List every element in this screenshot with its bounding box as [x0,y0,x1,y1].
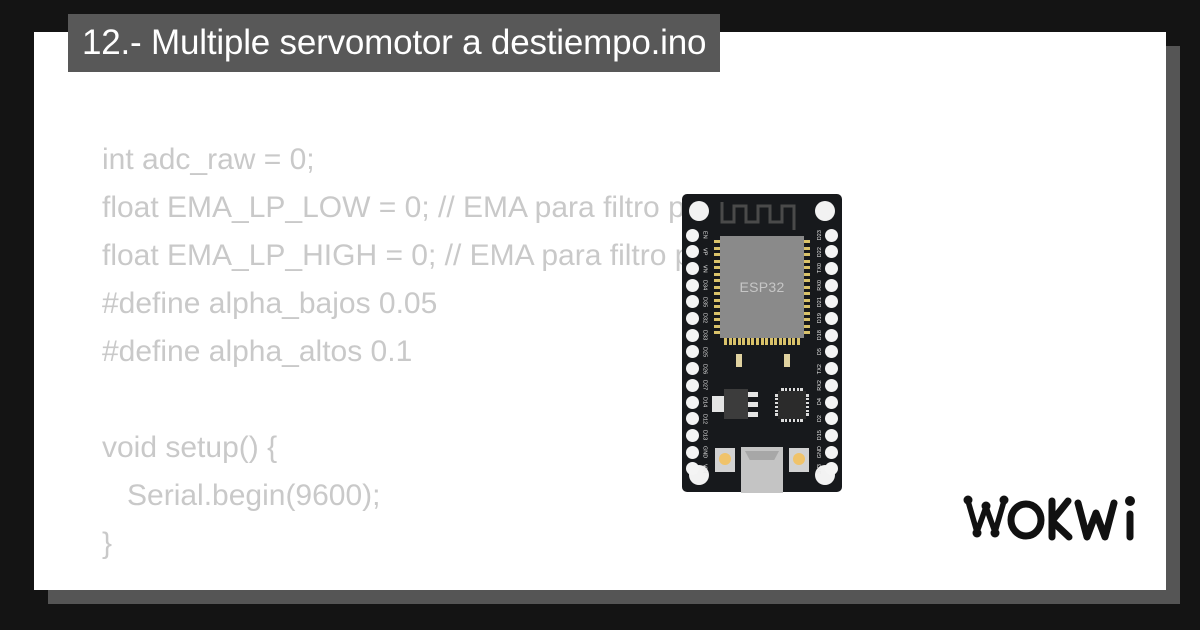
pin-pad-icon [825,396,838,409]
pin-pad-icon [686,396,699,409]
pin-label: D32 [701,313,706,323]
module-pad [803,305,810,308]
esp32-board: EN VP VN D34 D35 D32 D33 D25 D26 D27 D14… [682,194,842,492]
qfn-leads-right [806,394,809,416]
page-title: 12.- Multiple servomotor a destiempo.ino [82,23,706,63]
pin-label: D2 [818,415,823,422]
pin-left[interactable]: D25 [686,345,718,359]
pin-pad-icon [825,345,838,358]
pin-label: D26 [701,364,706,374]
module-pad [803,299,810,302]
module-pad [803,266,810,269]
module-pad [747,338,750,345]
module-pad [803,331,810,334]
pin-pad-icon [825,379,838,392]
qfn-lead [806,410,809,413]
pin-label: D5 [818,348,823,355]
pin-label: D23 [818,230,823,240]
pin-pad-icon [825,329,838,342]
pin-left[interactable]: D12 [686,412,718,426]
regulator-lead [748,402,758,407]
pin-left[interactable]: D26 [686,362,718,376]
pin-pad-icon [686,262,699,275]
pin-pad-icon [686,295,699,308]
module-pad [770,338,773,345]
pin-label: TX0 [818,263,823,273]
mount-hole-top-right [815,201,835,221]
pin-pad-icon [825,362,838,375]
module-pad [803,325,810,328]
pin-pad-icon [686,462,699,475]
pin-pad-icon [825,279,838,292]
module-pad [724,338,727,345]
module-pad [803,240,810,243]
pin-pad-icon [825,245,838,258]
pin-right[interactable]: RX0 [806,278,838,292]
pin-pad-icon [825,462,838,475]
pin-label: D25 [701,347,706,357]
pin-right[interactable]: GND [806,445,838,459]
qfn-lead [806,398,809,401]
pin-label: VIN [701,464,706,473]
module-pad [738,338,741,345]
qfn-lead [789,419,792,422]
module-pad [774,338,777,345]
esp32-module-shield: ESP32 [720,236,804,338]
qfn-lead [797,419,800,422]
project-title-bar: 12.- Multiple servomotor a destiempo.ino [68,14,720,72]
page-background: int adc_raw = 0; float EMA_LP_LOW = 0; /… [0,0,1200,630]
pin-label: TX2 [818,364,823,374]
pin-right[interactable]: 3V3 [806,462,838,476]
pin-pad-icon [825,262,838,275]
pin-label: D12 [701,414,706,424]
pin-label: 3V3 [818,464,823,474]
pin-left[interactable]: D13 [686,428,718,442]
module-pad [783,338,786,345]
pin-right[interactable]: D21 [806,295,838,309]
pin-right[interactable]: D4 [806,395,838,409]
pin-pad-icon [825,295,838,308]
regulator-lead [748,412,758,417]
pin-right[interactable]: D22 [806,245,838,259]
pin-right[interactable]: TX2 [806,362,838,376]
pin-label: VP [701,248,706,255]
test-pad [736,354,742,367]
module-pad [729,338,732,345]
pin-label: D14 [701,397,706,407]
qfn-lead [793,419,796,422]
pin-pad-icon [686,279,699,292]
module-pad [742,338,745,345]
pin-pad-icon [825,312,838,325]
pin-label: D19 [818,313,823,323]
mount-hole-top-left [689,201,709,221]
pin-label: EN [701,231,706,239]
code-line: #define alpha_bajos 0.05 [102,280,1166,328]
module-pad [803,279,810,282]
wokwi-wordmark-icon [962,487,1144,547]
pin-right[interactable]: D18 [806,328,838,342]
module-pad [803,318,810,321]
pin-right[interactable]: D19 [806,312,838,326]
pin-pad-icon [825,446,838,459]
pin-label: RX2 [818,380,823,391]
pin-pad-icon [686,245,699,258]
pin-header-right: D23 D22 TX0 RX0 D21 D19 D18 D5 TX2 RX2 D… [806,228,838,476]
pin-pad-icon [686,446,699,459]
qfn-lead [806,406,809,409]
module-pad [803,260,810,263]
module-pads-right [803,240,810,334]
pin-pad-icon [686,229,699,242]
qfn-lead [785,419,788,422]
module-pad [779,338,782,345]
module-pad [803,253,810,256]
pin-left[interactable]: GND [686,445,718,459]
qfn-lead [806,413,809,416]
module-pad [751,338,754,345]
module-pad [803,312,810,315]
pin-left[interactable]: VIN [686,462,718,476]
module-pad [803,247,810,250]
voltage-regulator [724,389,748,419]
code-line: float EMA_LP_HIGH = 0; // EMA para filtr… [102,232,1166,280]
esp32-module-label: ESP32 [720,236,804,338]
module-pad [756,338,759,345]
pin-pad-icon [686,429,699,442]
module-pad [733,338,736,345]
qfn-lead [806,394,809,397]
usb-uart-chip [778,391,806,419]
pin-label: D22 [818,247,823,257]
pin-label: D21 [818,297,823,307]
module-pads-bottom [724,338,800,345]
pin-pad-icon [686,362,699,375]
module-pad [803,292,810,295]
pin-right[interactable]: D15 [806,428,838,442]
pin-pad-icon [686,379,699,392]
pin-label: GND [701,446,706,458]
code-line: float EMA_LP_LOW = 0; // EMA para filtro… [102,184,1166,232]
pin-label: D35 [701,297,706,307]
pin-label: D13 [701,430,706,440]
pin-pad-icon [686,329,699,342]
wokwi-i-dot [1125,496,1135,506]
module-pad [803,286,810,289]
usb-port-opening [745,451,779,460]
wokwi-logo [962,487,1144,552]
module-pad [797,338,800,345]
code-line-blank [102,568,1166,590]
code-line: #define alpha_altos 0.1 [102,328,1166,376]
qfn-lead [800,419,803,422]
qfn-lead [781,419,784,422]
pin-label: D15 [818,430,823,440]
pin-pad-icon [686,345,699,358]
pin-label: D18 [818,330,823,340]
pin-right[interactable]: D5 [806,345,838,359]
pin-label: D34 [701,280,706,290]
pin-left[interactable]: D27 [686,378,718,392]
test-pad [784,354,790,367]
regulator-tab [712,396,724,412]
pin-right[interactable]: TX0 [806,261,838,275]
enable-reset-button[interactable] [789,448,809,472]
pin-right[interactable]: D2 [806,412,838,426]
code-line-blank [102,376,1166,424]
pcb-antenna-icon [720,200,804,236]
pin-label: GND [818,446,823,458]
project-preview-card: int adc_raw = 0; float EMA_LP_LOW = 0; /… [34,32,1166,590]
module-pad [765,338,768,345]
pin-pad-icon [825,429,838,442]
pin-pad-icon [825,229,838,242]
module-pad [761,338,764,345]
qfn-lead [806,402,809,405]
boot-button[interactable] [715,448,735,472]
pin-right[interactable]: RX2 [806,378,838,392]
pin-label: RX0 [818,280,823,291]
qfn-leads-bottom [781,419,803,422]
pin-pad-icon [686,412,699,425]
micro-usb-connector [741,447,783,493]
code-line: int adc_raw = 0; [102,136,1166,184]
module-pad [792,338,795,345]
pin-label: D33 [701,330,706,340]
pin-label: D27 [701,380,706,390]
module-pad [788,338,791,345]
pin-right[interactable]: D23 [806,228,838,242]
code-line: void setup() { [102,424,1166,472]
pin-pad-icon [686,312,699,325]
pin-label: D4 [818,398,823,405]
pin-label: VN [701,265,706,273]
regulator-lead [748,392,758,397]
pin-pad-icon [825,412,838,425]
module-pad [803,273,810,276]
board-pcb: EN VP VN D34 D35 D32 D33 D25 D26 D27 D14… [682,194,842,492]
